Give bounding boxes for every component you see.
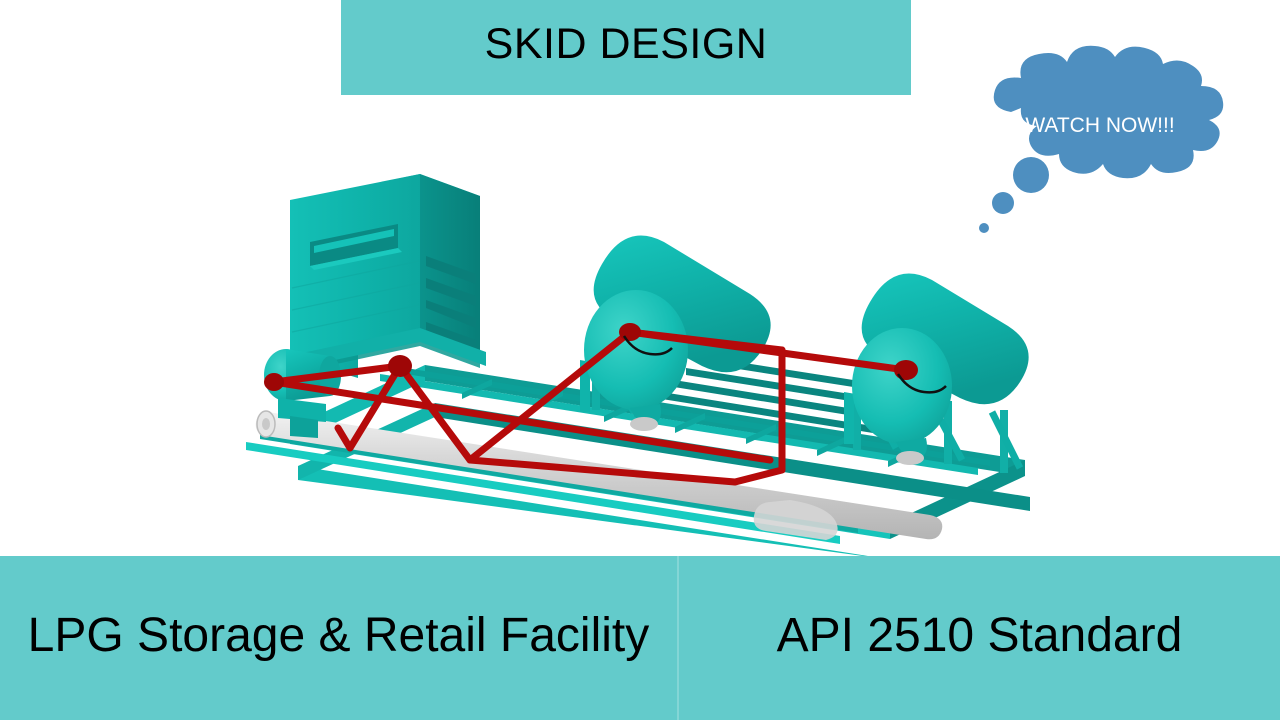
skid-illustration (230, 160, 1030, 560)
footer-label-standard: API 2510 Standard (777, 612, 1183, 660)
storage-vessel-1 (584, 236, 771, 431)
footer-label-facility: LPG Storage & Retail Facility (28, 612, 650, 660)
footer-panel-facility: LPG Storage & Retail Facility (0, 556, 677, 720)
footer-bar: LPG Storage & Retail Facility API 2510 S… (0, 556, 1280, 720)
footer-panel-standard: API 2510 Standard (677, 556, 1280, 720)
page-title: SKID DESIGN (485, 23, 768, 66)
compressor-enclosure (288, 174, 486, 378)
thought-cloud-icon (979, 46, 1223, 233)
title-banner: SKID DESIGN (341, 0, 911, 95)
slide-canvas: SKID DESIGN (0, 0, 1280, 720)
watch-now-callout[interactable]: WATCH NOW!!! (965, 40, 1265, 245)
